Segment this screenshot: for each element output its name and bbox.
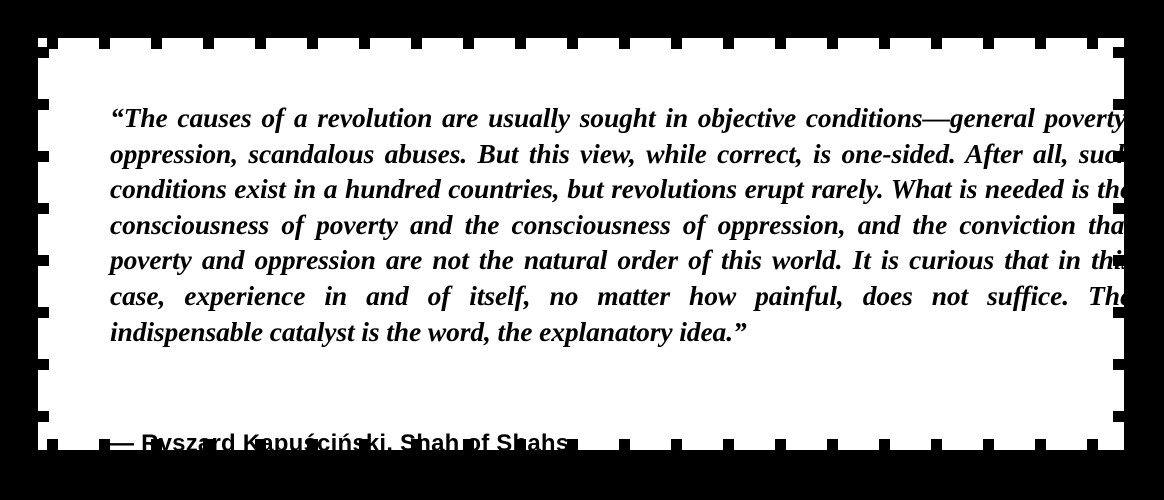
quote-card: “The causes of a revolution are usually …	[38, 38, 1124, 450]
card-content: “The causes of a revolution are usually …	[110, 100, 1132, 470]
quote-card-stage: “The causes of a revolution are usually …	[0, 0, 1164, 500]
quote-attribution: — Ryszard Kapuściński, Shah of Shahs	[110, 430, 569, 458]
quote-text: “The causes of a revolution are usually …	[110, 100, 1132, 349]
